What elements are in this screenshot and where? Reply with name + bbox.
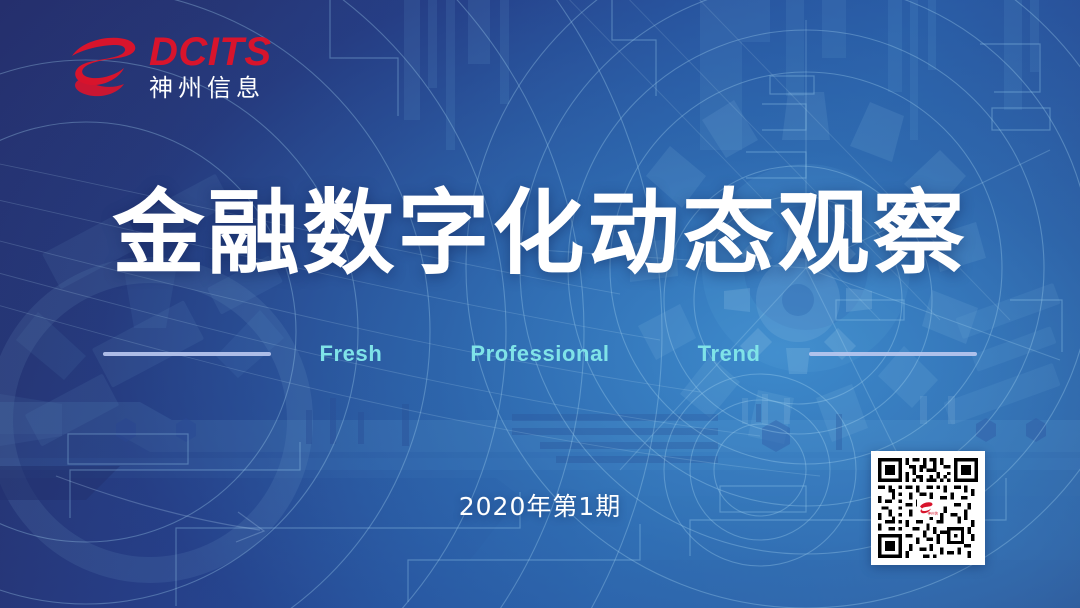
tagline-trend: Trend [698, 341, 761, 367]
dcits-swirl-icon [66, 34, 140, 102]
qr-center-logo: 神州信息 [917, 499, 939, 517]
tagline-fresh: Fresh [319, 341, 382, 367]
page-title: 金融数字化动态观察 [0, 186, 1080, 283]
brand-logo: DCITS 神州信息 [66, 32, 272, 104]
brand-name-cn: 神州信息 [149, 74, 272, 104]
qr-code[interactable]: 神州信息 [871, 451, 985, 565]
tagline-rule-left [103, 352, 271, 356]
poster-canvas: DCITS 神州信息 金融数字化动态观察 Fresh Professional … [0, 0, 1080, 608]
tagline-row: Fresh Professional Trend [0, 341, 1080, 367]
tagline-rule-right [809, 352, 977, 356]
svg-text:神州信息: 神州信息 [927, 510, 938, 515]
tagline-professional: Professional [470, 341, 609, 367]
brand-name-en: DCITS [149, 32, 272, 73]
